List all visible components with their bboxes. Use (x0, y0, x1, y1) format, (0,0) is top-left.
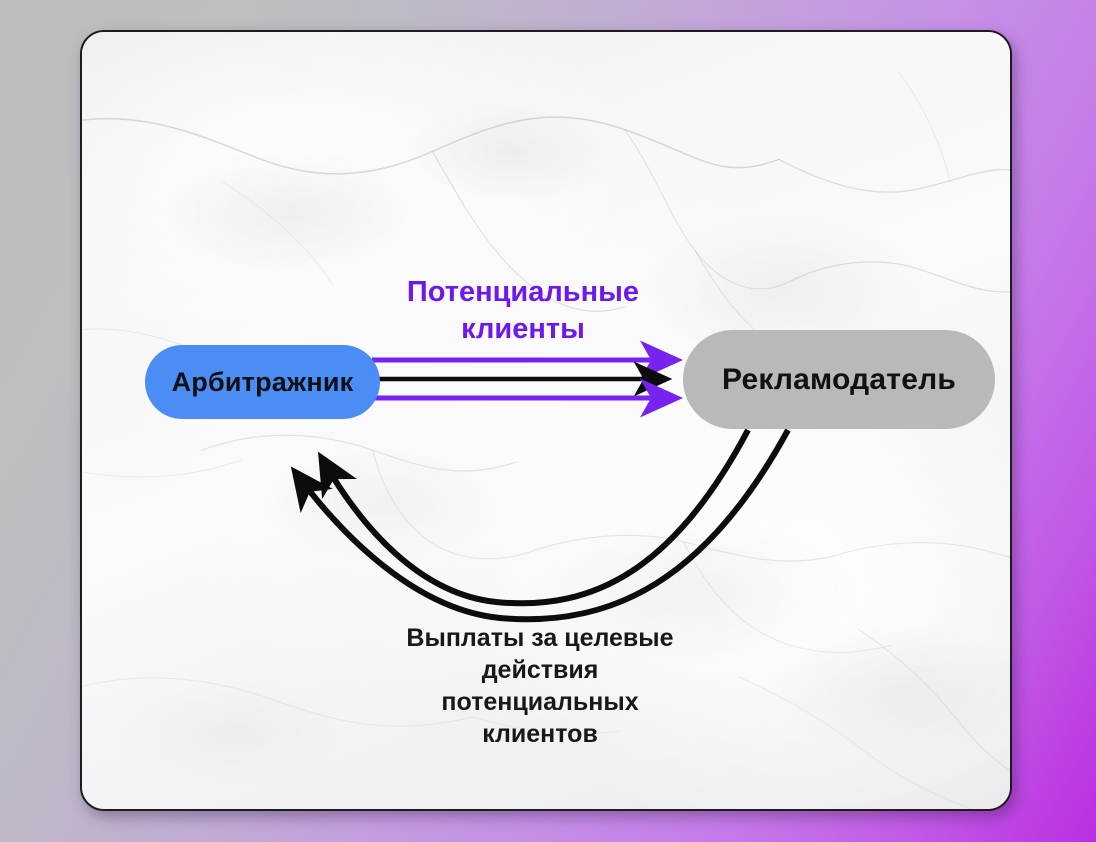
diagram-canvas: Арбитражник Рекламодатель Потенциальные … (0, 0, 1096, 842)
node-arbitrazhnik-label: Арбитражник (172, 367, 354, 398)
node-reklamodatel[interactable]: Рекламодатель (683, 330, 995, 429)
label-potential-clients: Потенциальные клиенты (348, 274, 698, 348)
node-arbitrazhnik[interactable]: Арбитражник (145, 345, 380, 419)
label-payouts-for-target-actions: Выплаты за целевые действия потенциальны… (330, 622, 750, 750)
node-reklamodatel-label: Рекламодатель (722, 363, 956, 397)
